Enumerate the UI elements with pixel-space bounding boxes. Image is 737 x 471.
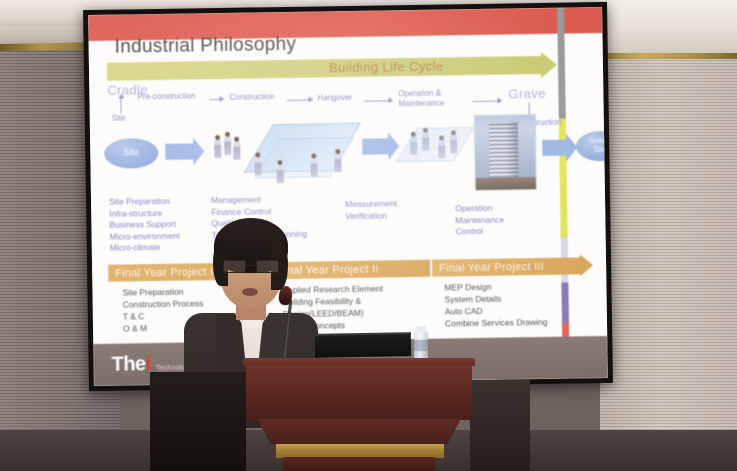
flow-arrow-head-2 <box>388 97 393 103</box>
flow-arrow-line-3 <box>473 101 498 102</box>
logo-text-the: The <box>111 353 145 377</box>
lectern-front-panel <box>246 365 472 420</box>
lectern-gold-band <box>276 444 444 458</box>
water-bottle-cap <box>416 326 426 332</box>
flow-arrow-line-2 <box>364 100 388 101</box>
project-items-2: MEP DesignSystem DetailsAuto CADCombine … <box>444 280 547 330</box>
laptop[interactable] <box>315 334 411 358</box>
flow-arrow-line-1 <box>286 100 308 101</box>
site-up-arrow-icon <box>120 98 121 114</box>
project-banner-arrowhead <box>580 254 593 276</box>
caption-column-3: OperationMaintenanceControl <box>455 203 504 238</box>
flow-arrow-head-3 <box>497 98 502 104</box>
lectern-bevel <box>257 419 461 445</box>
phase-label-1: Construction <box>229 92 274 102</box>
lifecycle-start-sub: Site <box>112 113 126 122</box>
lectern <box>243 358 475 471</box>
ceiling-right-section <box>594 0 737 56</box>
phase-label-2: Hangover <box>317 93 352 103</box>
flow-arrow-head-1 <box>308 97 313 103</box>
slide-title: Industrial Philosophy <box>114 34 296 59</box>
project-banner-2: Final Year Project III <box>432 257 580 276</box>
caption-column-2: MeasurementVerification <box>345 198 397 222</box>
flow-block-arrow-2 <box>362 138 388 154</box>
right-wall <box>600 0 737 471</box>
water-bottle-label <box>414 340 428 351</box>
lectern-base <box>283 457 435 471</box>
flow-arrow-line-0 <box>209 99 219 100</box>
background-shadow-right <box>470 380 530 471</box>
chair-shadow <box>150 372 246 471</box>
conference-room-scene: Industrial Philosophy Building Life Cycl… <box>0 0 737 471</box>
green-site-node-ellipse: GreenSite <box>576 131 608 162</box>
presenter-mouth <box>242 288 258 296</box>
lifecycle-band-label: Building Life Cycle <box>329 58 444 75</box>
slide-accent-stripe <box>557 8 570 379</box>
presenter-glasses <box>223 260 279 273</box>
lifecycle-end-label: Grave <box>508 86 546 102</box>
design-team-clipart <box>250 141 361 183</box>
presentation-slide: Industrial Philosophy Building Life Cycl… <box>88 7 608 386</box>
phase-label-0: Pre-construction <box>137 91 195 101</box>
flow-block-arrow-1 <box>165 143 193 159</box>
caption-column-0: Site PreparationInfra-structureBusiness … <box>109 196 180 255</box>
site-node-ellipse: Site <box>104 138 158 169</box>
flow-block-arrow-3 <box>542 140 566 156</box>
surveyor-clipart <box>212 131 243 171</box>
flow-arrow-head-0 <box>219 96 224 102</box>
phase-label-3: Operation &Maintenance <box>398 88 444 109</box>
completed-building-photo <box>474 114 537 191</box>
right-wall-gold-trim <box>600 53 737 59</box>
